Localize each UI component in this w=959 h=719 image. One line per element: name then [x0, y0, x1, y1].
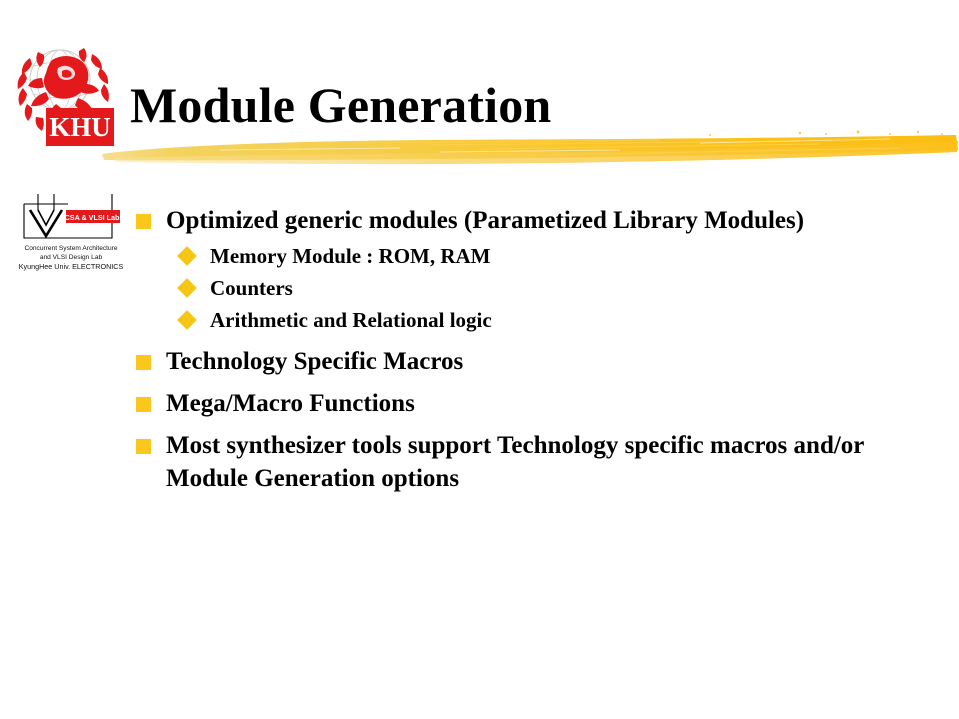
bullet-text: Memory Module : ROM, RAM [210, 244, 491, 268]
bullet-item-level2: Memory Module : ROM, RAM [130, 241, 930, 271]
slide-title: Module Generation [130, 76, 551, 134]
lab-caption-line-1: Concurrent System Architecture [24, 245, 117, 252]
bullet-item-level1: Optimized generic modules (Parametized L… [130, 204, 930, 237]
bullet-item-level2: Arithmetic and Relational logic [130, 305, 930, 335]
bullet-item-level1: Mega/Macro Functions [130, 387, 930, 420]
bullet-text: Mega/Macro Functions [166, 390, 415, 417]
gold-brush-stroke-divider [100, 128, 959, 174]
square-bullet-icon [136, 355, 151, 370]
bullet-text: Most synthesizer tools support Technolog… [166, 432, 864, 492]
slide-body-content: Optimized generic modules (Parametized L… [130, 204, 930, 497]
bullet-text: Technology Specific Macros [166, 348, 463, 375]
diamond-bullet-icon [177, 278, 197, 298]
bullet-text: Arithmetic and Relational logic [210, 308, 492, 332]
bullet-item-level1: Technology Specific Macros [130, 345, 930, 378]
slide-canvas: KHU Module Generation [0, 0, 959, 719]
square-bullet-icon [136, 214, 151, 229]
csa-vlsi-lab-badge-label: CSA & VLSI Lab. [65, 213, 122, 222]
bullet-item-level1: Most synthesizer tools support Technolog… [130, 429, 930, 495]
diamond-bullet-icon [177, 310, 197, 330]
bullet-text: Optimized generic modules (Parametized L… [166, 207, 804, 234]
square-bullet-icon [136, 397, 151, 412]
lab-caption-line-3: KyungHee Univ. ELECTRONICS [19, 262, 124, 271]
diamond-bullet-icon [177, 246, 197, 266]
square-bullet-icon [136, 439, 151, 454]
sub-bullet-list: Memory Module : ROM, RAM Counters Arithm… [130, 241, 930, 335]
bullet-text: Counters [210, 276, 293, 300]
csa-vlsi-lab-logo: CSA & VLSI Lab. Concurrent System Archit… [16, 192, 126, 274]
bullet-item-level2: Counters [130, 273, 930, 303]
lab-caption-line-2: and VLSI Design Lab [40, 254, 103, 261]
